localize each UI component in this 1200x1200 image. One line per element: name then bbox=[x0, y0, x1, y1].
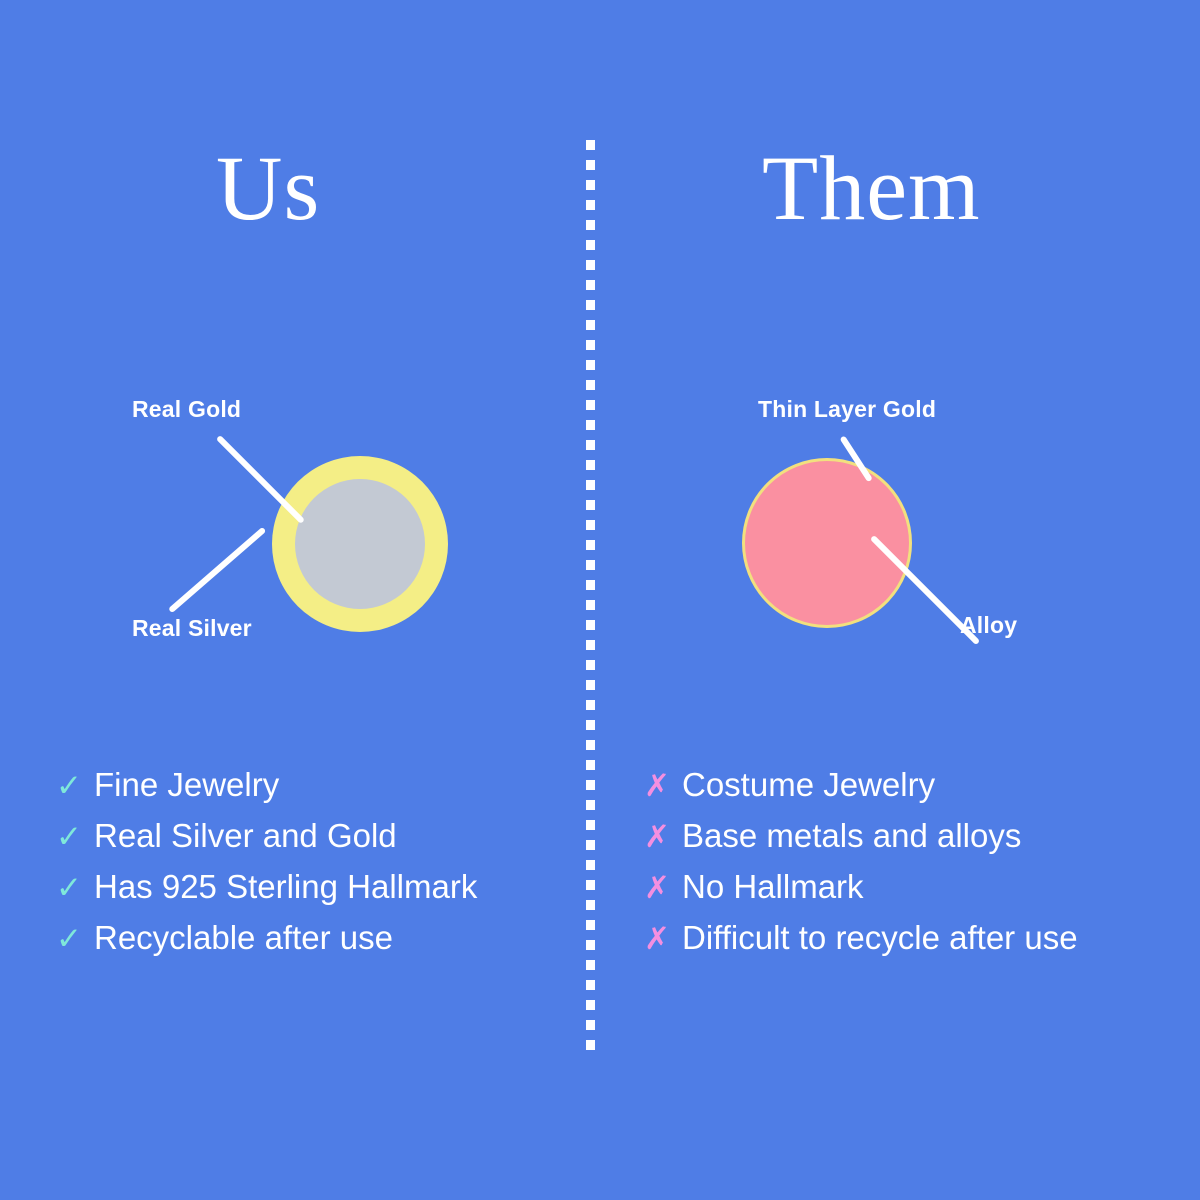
cross-icon: ✗ bbox=[644, 812, 670, 862]
plated-alloy-shape bbox=[742, 458, 912, 628]
list-item-label: Fine Jewelry bbox=[94, 760, 279, 810]
feature-list-us: ✓ Fine Jewelry ✓ Real Silver and Gold ✓ … bbox=[56, 760, 586, 964]
list-item-label: Has 925 Sterling Hallmark bbox=[94, 862, 477, 912]
list-item-label: Recyclable after use bbox=[94, 913, 393, 963]
cross-icon: ✗ bbox=[644, 761, 670, 811]
list-item-label: No Hallmark bbox=[682, 862, 864, 912]
list-item: ✓ Real Silver and Gold bbox=[56, 811, 586, 862]
diagram-us: Real Gold Real Silver bbox=[60, 380, 580, 670]
list-item: ✓ Fine Jewelry bbox=[56, 760, 586, 811]
page-title-them: Them bbox=[762, 138, 981, 239]
list-item-label: Real Silver and Gold bbox=[94, 811, 397, 861]
leader-line-real-gold bbox=[216, 435, 305, 524]
check-icon: ✓ bbox=[56, 761, 82, 811]
list-item: ✗ Base metals and alloys bbox=[644, 811, 1184, 862]
check-icon: ✓ bbox=[56, 812, 82, 862]
list-item: ✓ Recyclable after use bbox=[56, 913, 586, 964]
column-divider bbox=[586, 140, 595, 1055]
page-title-us: Us bbox=[216, 138, 320, 239]
silver-core-shape bbox=[295, 479, 425, 609]
check-icon: ✓ bbox=[56, 863, 82, 913]
diagram-label-thin-layer-gold: Thin Layer Gold bbox=[758, 396, 936, 423]
diagram-label-alloy: Alloy bbox=[960, 612, 1017, 639]
cross-icon: ✗ bbox=[644, 914, 670, 964]
diagram-label-real-silver: Real Silver bbox=[132, 615, 252, 642]
feature-list-them: ✗ Costume Jewelry ✗ Base metals and allo… bbox=[644, 760, 1184, 964]
list-item: ✗ Costume Jewelry bbox=[644, 760, 1184, 811]
list-item-label: Difficult to recycle after use bbox=[682, 913, 1078, 963]
list-item-label: Costume Jewelry bbox=[682, 760, 935, 810]
comparison-infographic: Us Them Real Gold Real Silver Thin Layer… bbox=[0, 0, 1200, 1200]
cross-icon: ✗ bbox=[644, 863, 670, 913]
diagram-label-real-gold: Real Gold bbox=[132, 396, 241, 423]
list-item: ✓ Has 925 Sterling Hallmark bbox=[56, 862, 586, 913]
list-item: ✗ Difficult to recycle after use bbox=[644, 913, 1184, 964]
diagram-them: Thin Layer Gold Alloy bbox=[640, 380, 1160, 670]
leader-line-real-silver bbox=[168, 527, 266, 614]
list-item-label: Base metals and alloys bbox=[682, 811, 1021, 861]
check-icon: ✓ bbox=[56, 914, 82, 964]
list-item: ✗ No Hallmark bbox=[644, 862, 1184, 913]
